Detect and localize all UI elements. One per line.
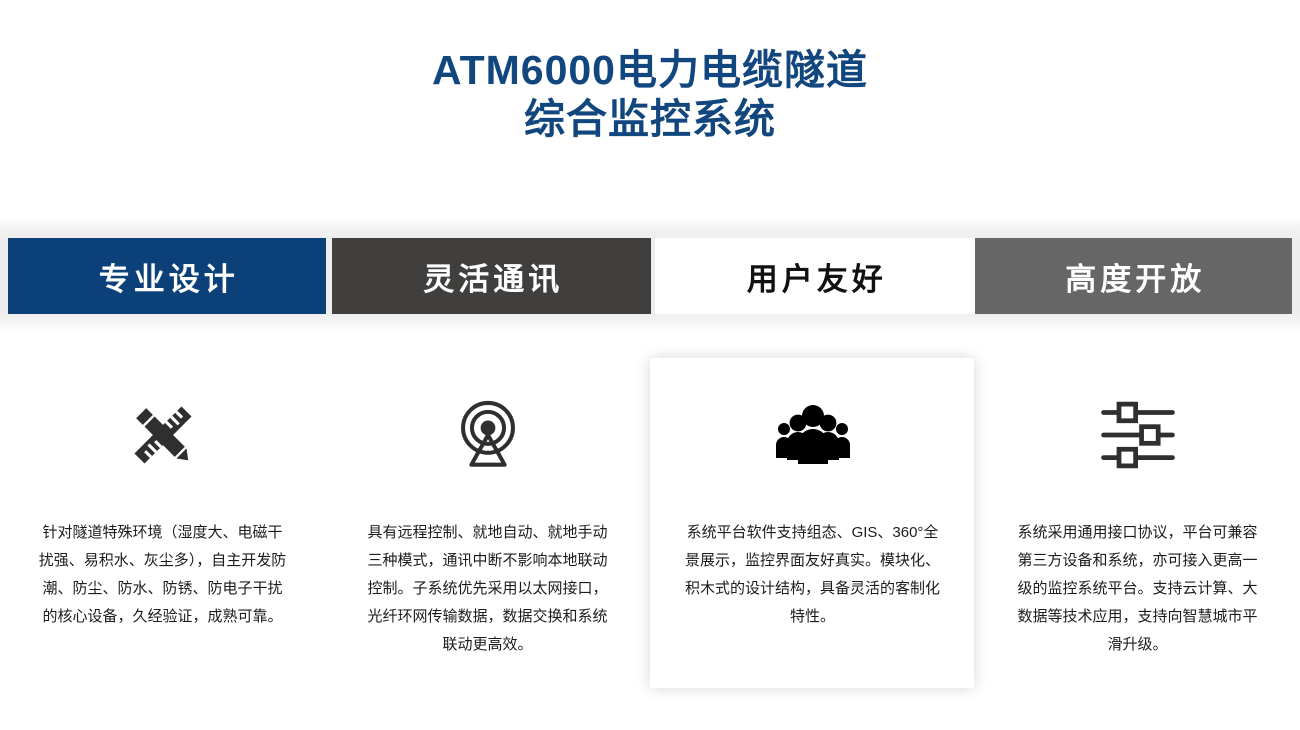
- feature-column-professional-design: 针对隧道特殊环境（湿度大、电磁干扰强、易积水、灰尘多），自主开发防潮、防尘、防水…: [0, 340, 325, 730]
- tab-label: 专业设计: [95, 254, 239, 299]
- title-line-2: 综合监控系统: [0, 95, 1300, 144]
- feature-body-text: 系统采用通用接口协议，平台可兼容第三方设备和系统，亦可接入更高一级的监控系统平台…: [1012, 519, 1264, 659]
- feature-column-highly-open: 系统采用通用接口协议，平台可兼容第三方设备和系统，亦可接入更高一级的监控系统平台…: [975, 340, 1300, 730]
- tab-label: 灵活通讯: [419, 254, 563, 299]
- tab-label: 高度开放: [1061, 254, 1205, 299]
- pencil-ruler-icon: [125, 372, 201, 497]
- tab-professional-design[interactable]: 专业设计: [8, 238, 326, 314]
- feature-column-user-friendly: 系统平台软件支持组态、GIS、360°全景展示，监控界面友好真实。模块化、积木式…: [650, 340, 975, 730]
- feature-columns: 针对隧道特殊环境（湿度大、电磁干扰强、易积水、灰尘多），自主开发防潮、防尘、防水…: [0, 340, 1300, 730]
- feature-body-text: 具有远程控制、就地自动、就地手动三种模式，通讯中断不影响本地联动控制。子系统优先…: [362, 519, 614, 659]
- tab-highly-open[interactable]: 高度开放: [975, 238, 1293, 314]
- feature-body-text: 针对隧道特殊环境（湿度大、电磁干扰强、易积水、灰尘多），自主开发防潮、防尘、防水…: [37, 519, 289, 631]
- tab-user-friendly[interactable]: 用户友好: [655, 238, 975, 314]
- title-line-1: ATM6000电力电缆隧道: [0, 46, 1300, 95]
- tab-bar: 专业设计 灵活通讯 用户友好 高度开放: [8, 238, 1292, 314]
- page-title: ATM6000电力电缆隧道 综合监控系统: [0, 46, 1300, 144]
- user-group-icon: [773, 372, 853, 497]
- feature-body-text: 系统平台软件支持组态、GIS、360°全景展示，监控界面友好真实。模块化、积木式…: [684, 519, 942, 631]
- feature-column-flexible-communication: 具有远程控制、就地自动、就地手动三种模式，通讯中断不影响本地联动控制。子系统优先…: [325, 340, 650, 730]
- tab-label: 用户友好: [743, 254, 887, 299]
- sliders-icon: [1100, 372, 1176, 497]
- slide-root: ATM6000电力电缆隧道 综合监控系统 专业设计 灵活通讯 用户友好 高度开放: [0, 0, 1300, 730]
- tab-flexible-communication[interactable]: 灵活通讯: [332, 238, 652, 314]
- broadcast-tower-icon: [450, 372, 526, 497]
